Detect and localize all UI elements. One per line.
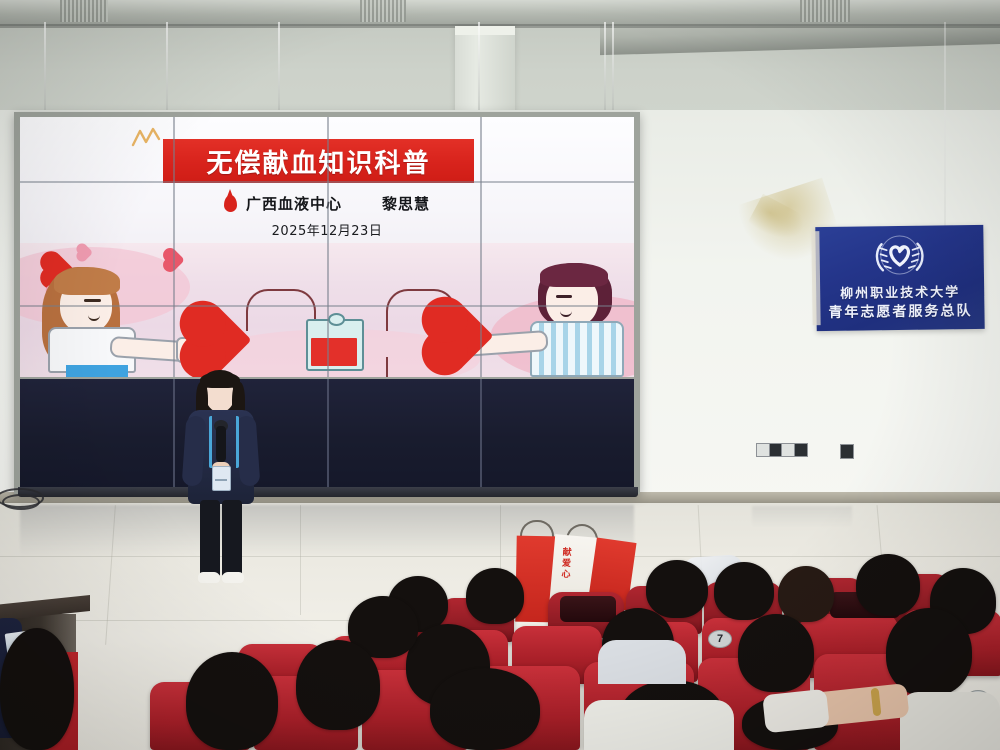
blood-bag-port bbox=[328, 313, 345, 326]
right-figure-hair-front bbox=[540, 263, 608, 287]
slide-decor-mark bbox=[130, 125, 162, 151]
video-wall-base bbox=[18, 487, 638, 497]
presenter-leg-left bbox=[200, 500, 220, 576]
panel-bezel-h2 bbox=[20, 305, 634, 307]
audience-head-6 bbox=[856, 554, 920, 616]
cartoon-donor-left bbox=[26, 265, 176, 377]
panel-bezel-v5 bbox=[327, 379, 329, 489]
audience-head-12 bbox=[886, 608, 972, 696]
lecture-hall-scene: 无偿献血知识科普 广西血液中心 黎思慧 2025年12月23日 bbox=[0, 0, 1000, 750]
zigzag-icon bbox=[130, 125, 162, 151]
panel-bezel-v2 bbox=[327, 117, 329, 377]
slide-presenter-name: 黎思慧 bbox=[382, 193, 430, 214]
floor-reflection-outlets bbox=[752, 506, 852, 528]
wall-seam-5 bbox=[604, 22, 606, 122]
presenter-arm-right bbox=[236, 415, 261, 486]
wall-seam-1 bbox=[44, 22, 46, 122]
audience-shoulders-3 bbox=[598, 640, 686, 684]
wall-seam-2 bbox=[166, 22, 168, 122]
audience-shoulders-2 bbox=[900, 692, 1000, 750]
seat-number-4-label: 7 bbox=[717, 633, 723, 645]
audience-head-13 bbox=[186, 652, 278, 750]
panel-bezel-v4 bbox=[173, 379, 175, 489]
blood-drop-icon bbox=[224, 195, 237, 212]
floor-cable-2 bbox=[2, 494, 40, 510]
ceiling-column bbox=[455, 26, 515, 122]
cartoon-donor-right bbox=[490, 259, 634, 377]
left-figure-eye bbox=[84, 299, 101, 302]
audience-head-18 bbox=[0, 628, 74, 750]
wreath-heart-emblem bbox=[866, 234, 933, 281]
left-figure-skirt bbox=[66, 365, 128, 377]
handheld-microphone bbox=[216, 426, 226, 462]
seat-number-4: 7 bbox=[708, 630, 732, 648]
ceiling-vent-right bbox=[800, 0, 850, 22]
panel-bezel-v1 bbox=[173, 117, 175, 377]
video-wall-lower-panels[interactable] bbox=[20, 379, 634, 489]
panel-bezel-v6 bbox=[480, 379, 482, 489]
audience-head-5 bbox=[778, 566, 834, 622]
audience-head-11 bbox=[738, 614, 814, 692]
slide-title-bar: 无偿献血知识科普 bbox=[163, 139, 474, 183]
left-figure-hair-front bbox=[54, 267, 120, 295]
audience-head-3 bbox=[646, 560, 708, 618]
presenter-id-badge bbox=[212, 466, 231, 491]
wall-seam-3 bbox=[278, 22, 280, 122]
ceiling-band bbox=[0, 0, 1000, 26]
blood-bag-fill bbox=[311, 338, 357, 366]
ceiling-vent-left bbox=[60, 0, 108, 22]
presenter-shoe-left bbox=[198, 572, 220, 583]
bag-printed-text: 献爱心 bbox=[561, 548, 572, 581]
student-presenter bbox=[176, 370, 266, 590]
audience-shoulders-1 bbox=[584, 700, 734, 750]
panel-bezel-v3 bbox=[480, 117, 482, 377]
video-wall-screen[interactable]: 无偿献血知识科普 广西血液中心 黎思慧 2025年12月23日 bbox=[20, 117, 634, 377]
ceiling-vent-mid bbox=[360, 0, 406, 22]
presenter-shoe-right bbox=[222, 572, 244, 583]
banner-line-1: 柳州职业技术大学 bbox=[816, 281, 984, 302]
blood-bag bbox=[306, 319, 364, 371]
slide-title: 无偿献血知识科普 bbox=[206, 143, 430, 180]
wall-seam-6 bbox=[612, 22, 614, 122]
volunteer-banner: 柳州职业技术大学 青年志愿者服务总队 bbox=[815, 225, 984, 331]
audience-head-15 bbox=[430, 668, 540, 750]
seat-shadow-1 bbox=[560, 596, 616, 622]
presenter-leg-right bbox=[222, 500, 242, 576]
wall-seam-4 bbox=[478, 22, 480, 118]
wall-outlet-5 bbox=[840, 444, 854, 459]
audience-head-2 bbox=[466, 568, 524, 624]
right-figure-eye bbox=[556, 295, 572, 298]
audience-sleeve bbox=[762, 689, 830, 733]
audience-head-4 bbox=[714, 562, 774, 620]
audience-head-14 bbox=[296, 640, 380, 730]
panel-bezel-h1 bbox=[20, 181, 634, 183]
wall-outlet-4 bbox=[794, 443, 808, 457]
banner-line-2: 青年志愿者服务总队 bbox=[816, 300, 984, 322]
